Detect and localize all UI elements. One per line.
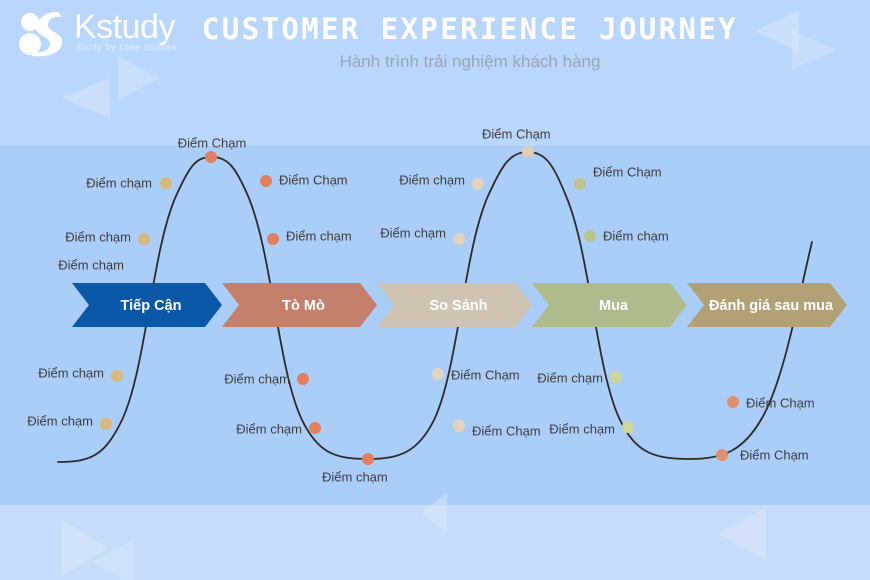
touchpoint-dot[interactable]: [610, 371, 622, 383]
touchpoint-label: Điểm chạm: [236, 423, 302, 436]
touchpoint-label: Điểm chạm: [380, 227, 446, 240]
touchpoint-label: Điểm chạm: [399, 174, 465, 187]
touchpoint-label: Điểm chạm: [537, 372, 603, 385]
touchpoint-dot[interactable]: [260, 175, 272, 187]
touchpoint-label: Điểm chạm: [38, 367, 104, 380]
touchpoint-label: Điểm Chạm: [451, 369, 520, 382]
touchpoint-dot[interactable]: [453, 233, 465, 245]
touchpoint-label: Điểm chạm: [27, 415, 93, 428]
touchpoint-label: Điểm chạm: [286, 230, 352, 243]
touchpoint-dot[interactable]: [716, 449, 728, 461]
touchpoint-dot[interactable]: [727, 396, 739, 408]
touchpoint-dot[interactable]: [522, 146, 534, 158]
touchpoint-label: Điểm chạm: [86, 177, 152, 190]
touchpoint-label: Điểm chạm: [58, 259, 124, 272]
touchpoint-dot[interactable]: [622, 421, 634, 433]
journey-stage-bar: Tiếp CậnTò MòSo SánhMuaĐánh giá sau mua: [72, 282, 862, 326]
touchpoint-label: Điểm Chạm: [178, 137, 247, 150]
stage-label: Tiếp Cận: [121, 298, 182, 314]
touchpoint-label: Điểm chạm: [224, 373, 290, 386]
touchpoint-label: Điểm Chạm: [746, 397, 815, 410]
infographic-canvas: Kstudy Study by case studies CUSTOMER EX…: [0, 0, 870, 580]
touchpoint-dot[interactable]: [453, 420, 465, 432]
stage-label: Mua: [599, 298, 629, 314]
touchpoint-dot[interactable]: [267, 233, 279, 245]
touchpoint-label: Điểm chạm: [603, 230, 669, 243]
touchpoint-dot[interactable]: [362, 453, 374, 465]
touchpoint-dot[interactable]: [100, 418, 112, 430]
touchpoint-dot[interactable]: [584, 230, 596, 242]
touchpoint-label: Điểm Chạm: [482, 128, 551, 141]
touchpoint-dot[interactable]: [432, 368, 444, 380]
touchpoint-label: Điểm Chạm: [593, 166, 662, 179]
touchpoint-label: Điểm chạm: [549, 423, 615, 436]
touchpoint-label: Điểm Chạm: [740, 449, 809, 462]
touchpoint-label: Điểm Chạm: [279, 174, 348, 187]
touchpoint-dot[interactable]: [472, 178, 484, 190]
touchpoint-dot[interactable]: [160, 177, 172, 189]
touchpoint-dot[interactable]: [138, 233, 150, 245]
touchpoint-dot[interactable]: [309, 422, 321, 434]
touchpoint-dot[interactable]: [574, 178, 586, 190]
touchpoint-label: Điểm chạm: [65, 231, 131, 244]
stage-label: Đánh giá sau mua: [709, 298, 834, 314]
stage-label: So Sánh: [429, 298, 487, 314]
touchpoint-label: Điểm chạm: [322, 471, 388, 484]
touchpoint-label: Điểm Chạm: [472, 425, 541, 438]
touchpoint-dot[interactable]: [297, 373, 309, 385]
stage-label: Tò Mò: [282, 298, 325, 314]
touchpoint-dot[interactable]: [111, 370, 123, 382]
touchpoint-dot[interactable]: [205, 151, 217, 163]
